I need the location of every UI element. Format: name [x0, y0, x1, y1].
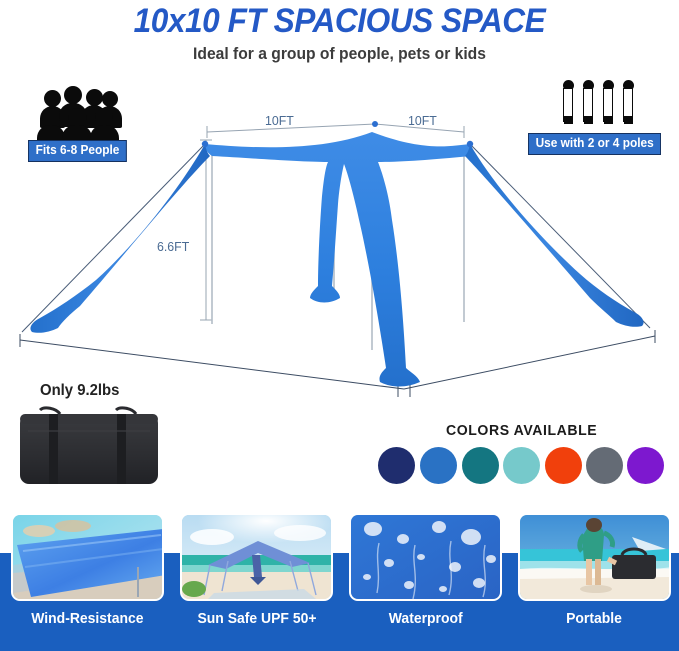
infographic-root: 10x10 FT SPACIOUS SPACE Ideal for a grou… [0, 0, 679, 651]
feature-card-waterproof[interactable]: Waterproof [349, 513, 502, 651]
feature-label-sun-safe: Sun Safe UPF 50+ [180, 609, 333, 629]
canopy-fabric [205, 132, 473, 387]
color-swatch-orange-red[interactable] [545, 447, 582, 484]
bag-weight-caption: Only 9.2lbs [40, 382, 119, 400]
feature-label-wind-resistance: Wind-Resistance [11, 609, 164, 629]
feature-label-portable: Portable [518, 609, 671, 629]
feature-image-sun-safe [180, 513, 333, 601]
feature-image-waterproof [349, 513, 502, 601]
feature-card-portable[interactable]: Portable [518, 513, 671, 651]
dimension-label-width-left: 10FT [265, 113, 294, 128]
dimension-label-height: 6.6FT [157, 239, 189, 254]
feature-image-portable [518, 513, 671, 601]
color-swatch-teal[interactable] [462, 447, 499, 484]
carry-bag-icon [16, 404, 162, 490]
color-swatch-light-teal[interactable] [503, 447, 540, 484]
corner-node-right [467, 141, 473, 147]
color-swatch-blue[interactable] [420, 447, 457, 484]
page-title: 10x10 FT SPACIOUS SPACE [24, 2, 655, 40]
canopy-diagram-svg [0, 100, 679, 410]
canopy-leg-right [465, 144, 644, 327]
guy-line-left [22, 144, 205, 332]
feature-image-wind-resistance [11, 513, 164, 601]
apex-node [372, 121, 378, 127]
color-swatch-navy[interactable] [378, 447, 415, 484]
dimension-label-width-right: 10FT [408, 113, 437, 128]
color-swatch-row [378, 447, 664, 485]
colors-available-title: COLORS AVAILABLE [446, 423, 597, 439]
height-dimension-line [200, 140, 212, 320]
corner-node-left [202, 141, 208, 147]
feature-card-sun-safe[interactable]: Sun Safe UPF 50+ [180, 513, 333, 651]
feature-label-waterproof: Waterproof [349, 609, 502, 629]
page-subtitle: Ideal for a group of people, pets or kid… [27, 44, 652, 64]
feature-card-wind-resistance[interactable]: Wind-Resistance [11, 513, 164, 651]
guy-line-right [470, 144, 650, 328]
color-swatch-purple[interactable] [627, 447, 664, 484]
color-swatch-gray[interactable] [586, 447, 623, 484]
